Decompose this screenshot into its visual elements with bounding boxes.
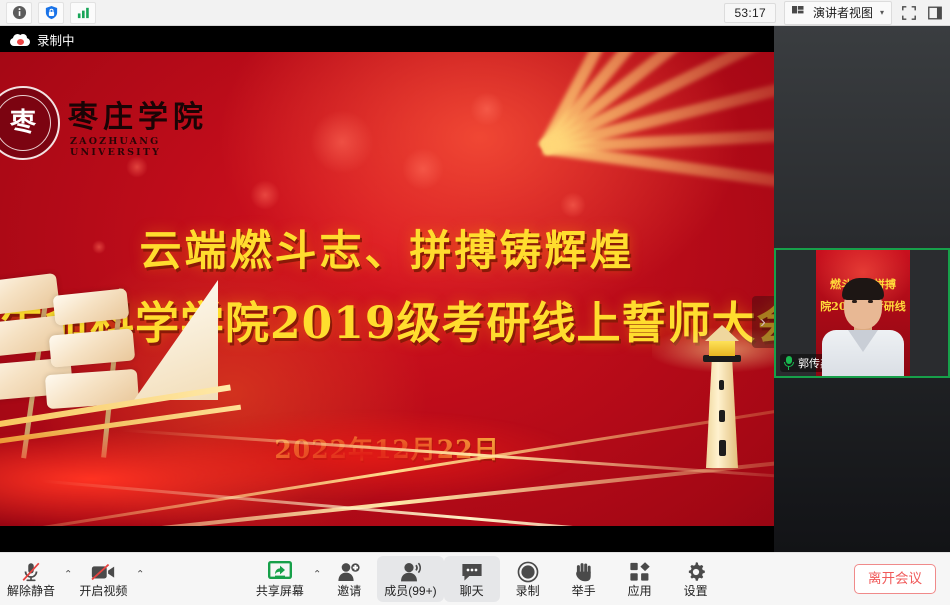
network-signal-icon[interactable]: [70, 2, 96, 24]
gear-icon: [685, 561, 707, 583]
video-options-chevron-icon[interactable]: ⌄: [136, 567, 144, 578]
toolbar-label-invite: 邀请: [337, 585, 361, 598]
participant-thumbnail[interactable]: 燃斗志、拼搏 院2019级考研线 郭传鑫: [774, 248, 950, 378]
recording-indicator: 录制中: [10, 30, 75, 49]
zoom-meeting-window: 53:17 演讲者视图 ▾ 录制中: [0, 0, 950, 605]
toolbar-item-record[interactable]: 录制: [500, 556, 556, 602]
invite-user-icon: [337, 561, 361, 583]
meeting-timer: 53:17: [724, 3, 776, 23]
unmute-options-chevron-icon[interactable]: ⌄: [64, 567, 72, 578]
next-page-chevron-icon[interactable]: ›: [752, 296, 774, 348]
split-view-icon[interactable]: [926, 4, 944, 22]
toolbar-center-group: 共享屏幕 ⌄ 邀请: [249, 553, 724, 605]
record-circle-icon: [517, 561, 539, 583]
participant-video-feed: 燃斗志、拼搏 院2019级考研线: [816, 250, 910, 376]
toolbar-item-share-screen[interactable]: 共享屏幕: [249, 556, 311, 602]
toolbar-item-chat[interactable]: 聊天: [444, 556, 500, 602]
toolbar-label-chat: 聊天: [460, 585, 484, 598]
microphone-muted-icon: [20, 561, 42, 583]
toolbar-label-record: 录制: [516, 585, 540, 598]
lighthouse-decoration: [692, 323, 752, 468]
stage-top-strip: [0, 26, 774, 52]
toolbar-label-apps: 应用: [628, 585, 652, 598]
camera-muted-icon: [90, 561, 116, 583]
fullscreen-icon[interactable]: [900, 4, 918, 22]
gold-streaks-decoration: [0, 346, 774, 526]
share-screen-icon: [268, 561, 292, 583]
apps-grid-icon: [629, 561, 651, 583]
toolbar-label-raise-hand: 举手: [572, 585, 596, 598]
toolbar-item-raise-hand[interactable]: 举手: [556, 556, 612, 602]
shield-security-icon[interactable]: [38, 2, 64, 24]
meeting-toolbar: 解除静音 ⌄ 开启视频 ⌄: [0, 552, 950, 605]
university-name-en: ZAOZHUANG UNIVERSITY: [70, 136, 236, 158]
toolbar-left-group: 解除静音 ⌄ 开启视频 ⌄: [0, 553, 145, 605]
toolbar-item-unmute[interactable]: 解除静音: [0, 556, 62, 602]
recording-label: 录制中: [37, 30, 75, 49]
main-video-stage: 录制中: [0, 26, 774, 552]
toolbar-label-participants: 成员(99+): [384, 585, 436, 598]
seal-glyph: 枣: [10, 110, 36, 136]
university-name-cn: 枣庄学院: [68, 92, 208, 136]
university-logo: 枣 枣庄学院 ZAOZHUANG UNIVERSITY: [0, 80, 236, 172]
top-bar: 53:17 演讲者视图 ▾: [0, 0, 950, 26]
top-bar-left-icons: [0, 2, 96, 24]
microphone-icon: [783, 356, 794, 370]
cloud-recording-icon: [10, 33, 30, 46]
toolbar-label-settings: 设置: [684, 585, 708, 598]
chat-bubble-icon: [460, 561, 484, 583]
participants-icon: [398, 561, 422, 583]
participants-filmstrip-panel: 燃斗志、拼搏 院2019级考研线 郭传鑫: [774, 26, 950, 552]
top-bar-right-controls: 53:17 演讲者视图 ▾: [724, 1, 950, 25]
toolbar-item-invite[interactable]: 邀请: [321, 556, 377, 602]
toolbar-label-share-screen: 共享屏幕: [256, 585, 304, 598]
raise-hand-icon: [574, 561, 594, 583]
toolbar-item-settings[interactable]: 设置: [668, 556, 724, 602]
slide-title-line-1: 云端燃斗志、拼搏铸辉煌: [0, 217, 774, 278]
toolbar-item-apps[interactable]: 应用: [612, 556, 668, 602]
chevron-down-icon: ▾: [880, 8, 884, 17]
university-seal-icon: 枣: [0, 86, 60, 160]
toolbar-label-unmute: 解除静音: [7, 585, 55, 598]
toolbar-item-participants[interactable]: 成员(99+): [377, 556, 443, 602]
toolbar-item-start-video[interactable]: 开启视频: [72, 556, 134, 602]
toolbar-label-start-video: 开启视频: [79, 585, 127, 598]
view-mode-label: 演讲者视图: [813, 4, 873, 21]
light-rays-decoration: [394, 52, 774, 322]
shared-slide: 枣 枣庄学院 ZAOZHUANG UNIVERSITY 云端燃斗志、拼搏铸辉煌 …: [0, 52, 774, 526]
view-mode-selector[interactable]: 演讲者视图 ▾: [784, 1, 892, 25]
info-icon[interactable]: [6, 2, 32, 24]
speaker-view-icon: [790, 4, 808, 22]
leave-meeting-button[interactable]: 离开会议: [854, 564, 936, 594]
share-options-chevron-icon[interactable]: ⌄: [313, 567, 321, 578]
